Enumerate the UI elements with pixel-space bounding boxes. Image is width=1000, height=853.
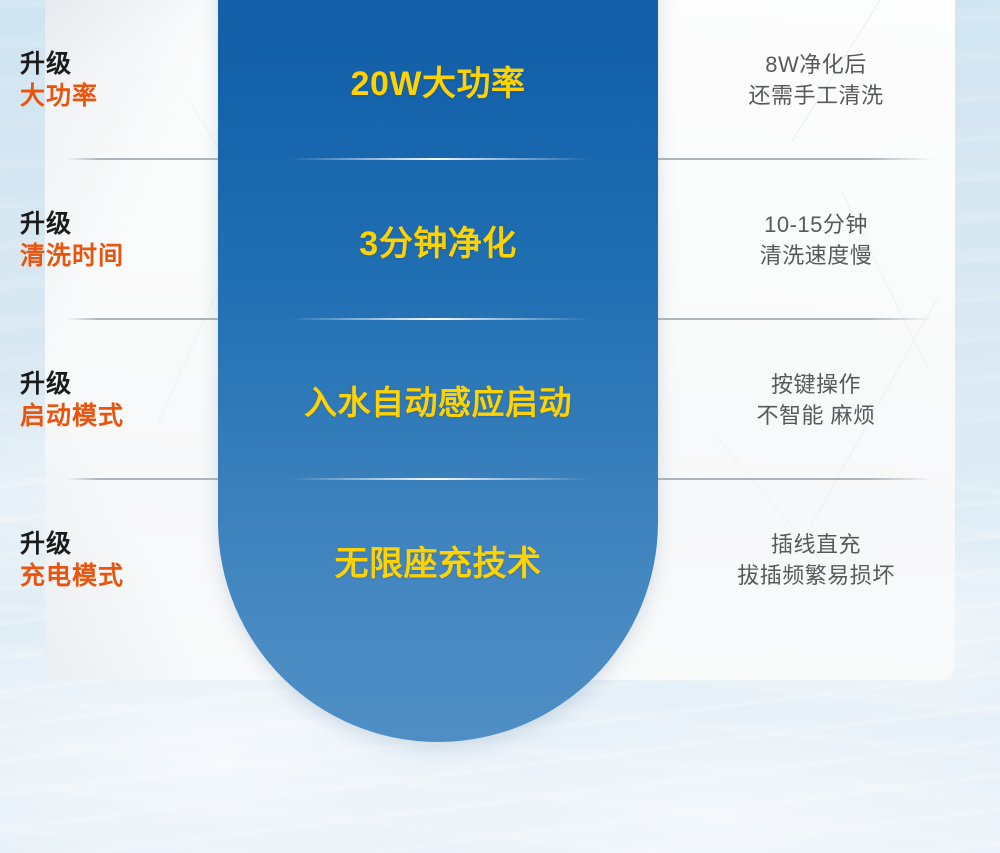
drawback-line: 10-15分钟 [764,209,868,240]
row-feature-cell: 3分钟净化 [218,160,658,320]
comparison-row: 升级 启动模式 入水自动感应启动 按键操作 不智能 麻烦 [0,320,1000,480]
comparison-rows: 升级 大功率 20W大功率 8W净化后 还需手工清洗 升级 清洗时间 3分钟净化… [0,0,1000,853]
upgrade-term: 启动模式 [20,400,124,432]
feature-text: 无限座充技术 [335,536,542,585]
divider-segment-left [66,158,218,160]
upgrade-kicker: 升级 [20,208,72,240]
divider-segment-center [290,318,590,320]
row-drawback-cell: 10-15分钟 清洗速度慢 [658,160,1000,320]
divider-segment-left [66,318,218,320]
drawback-line: 不智能 麻烦 [756,400,875,431]
divider-segment-right [658,158,934,160]
row-drawback-cell: 按键操作 不智能 麻烦 [658,320,1000,480]
row-feature-cell: 无限座充技术 [218,480,658,640]
divider-segment-center [290,478,590,480]
divider-segment-left [66,478,218,480]
row-divider [0,478,1000,480]
divider-segment-right [658,318,934,320]
divider-segment-right [658,478,934,480]
row-label-cell: 升级 清洗时间 [0,160,218,320]
drawback-line: 还需手工清洗 [748,80,883,111]
drawback-line: 8W净化后 [765,49,867,80]
comparison-row: 升级 充电模式 无限座充技术 插线直充 拔插频繁易损坏 [0,480,1000,640]
divider-segment-center [290,158,590,160]
feature-text: 20W大功率 [351,56,526,105]
row-drawback-cell: 8W净化后 还需手工清洗 [658,0,1000,160]
upgrade-kicker: 升级 [20,528,72,560]
row-feature-cell: 入水自动感应启动 [218,320,658,480]
upgrade-term: 大功率 [20,80,98,112]
row-label-cell: 升级 充电模式 [0,480,218,640]
upgrade-kicker: 升级 [20,48,72,80]
drawback-line: 按键操作 [771,369,861,400]
drawback-line: 插线直充 [771,529,861,560]
comparison-row: 升级 大功率 20W大功率 8W净化后 还需手工清洗 [0,0,1000,160]
page-root: 升级 大功率 20W大功率 8W净化后 还需手工清洗 升级 清洗时间 3分钟净化… [0,0,1000,853]
row-divider [0,318,1000,320]
row-label-cell: 升级 大功率 [0,0,218,160]
row-drawback-cell: 插线直充 拔插频繁易损坏 [658,480,1000,640]
upgrade-term: 充电模式 [20,560,124,592]
row-divider [0,158,1000,160]
upgrade-kicker: 升级 [20,368,72,400]
drawback-line: 清洗速度慢 [760,240,873,271]
drawback-line: 拔插频繁易损坏 [737,560,895,591]
row-label-cell: 升级 启动模式 [0,320,218,480]
comparison-row: 升级 清洗时间 3分钟净化 10-15分钟 清洗速度慢 [0,160,1000,320]
feature-text: 入水自动感应启动 [304,376,572,424]
feature-text: 3分钟净化 [359,216,516,265]
row-feature-cell: 20W大功率 [218,0,658,160]
upgrade-term: 清洗时间 [20,240,124,272]
